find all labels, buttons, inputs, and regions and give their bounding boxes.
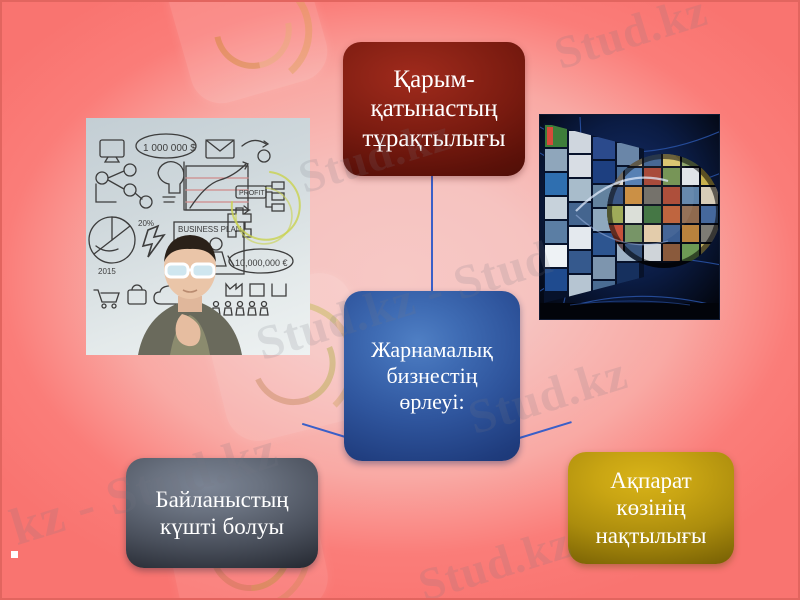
svg-text:2015: 2015 [98, 267, 116, 276]
business-doodles-graphic: 1 000 000 $ [86, 118, 310, 355]
node-top-line1: Қарым- [362, 65, 505, 95]
node-bottom-right-line1: Ақпарат [595, 467, 706, 494]
node-bottom-left-line1: Байланыстың [155, 486, 288, 513]
node-center-line2: бизнестің [371, 363, 493, 389]
connector-center-to-top [431, 176, 433, 292]
node-top-relationship-stability[interactable]: Қарым- қатынастың тұрақтылығы [343, 42, 525, 176]
watermark-bottom-center: Stud.kz [412, 515, 577, 600]
watermark-top-right: Stud.kz [548, 0, 713, 80]
logo-plate-shape [161, 0, 334, 111]
node-top-label: Қарым- қатынастың тұрақтылығы [362, 65, 505, 154]
node-bottom-right-information-accuracy[interactable]: Ақпарат көзінің нақтылығы [568, 452, 734, 564]
node-bottom-right-line2: көзінің [595, 494, 706, 521]
svg-text:BUSINESS PLAN: BUSINESS PLAN [178, 225, 242, 234]
node-top-line3: тұрақтылығы [362, 124, 505, 154]
node-top-line2: қатынастың [362, 94, 505, 124]
logo-swirl-inner-shape [199, 0, 307, 84]
node-bottom-left-label: Байланыстың күшті болуы [155, 486, 288, 540]
media-globe-photo [539, 114, 720, 320]
node-bottom-left-line2: күшті болуы [155, 513, 288, 540]
node-center-label: Жарнамалық бизнестің өрлеуі: [371, 337, 493, 415]
svg-text:PROFIT: PROFIT [239, 190, 265, 197]
svg-text:1 000 000 $: 1 000 000 $ [143, 143, 196, 154]
businessman-photo: 1 000 000 $ [86, 118, 310, 355]
svg-text:20%: 20% [138, 219, 154, 228]
node-bottom-right-line3: нақтылығы [595, 522, 706, 549]
node-bottom-left-strong-connection[interactable]: Байланыстың күшті болуы [126, 458, 318, 568]
node-bottom-right-label: Ақпарат көзінің нақтылығы [595, 467, 706, 548]
media-globe-graphic [540, 115, 720, 320]
bullet-point-marker [11, 551, 18, 558]
node-center-line3: өрлеуі: [371, 389, 493, 415]
logo-swirl-shape [194, 0, 316, 92]
slide-canvas: 1 000 000 $ [0, 0, 800, 600]
logo-watermark-top [161, 0, 334, 111]
node-center-advertising-business-growth[interactable]: Жарнамалық бизнестің өрлеуі: [344, 291, 520, 461]
connector-center-to-bottom-right [516, 421, 572, 439]
node-center-line1: Жарнамалық [371, 337, 493, 363]
svg-text:10,000,000 €: 10,000,000 € [235, 258, 288, 268]
